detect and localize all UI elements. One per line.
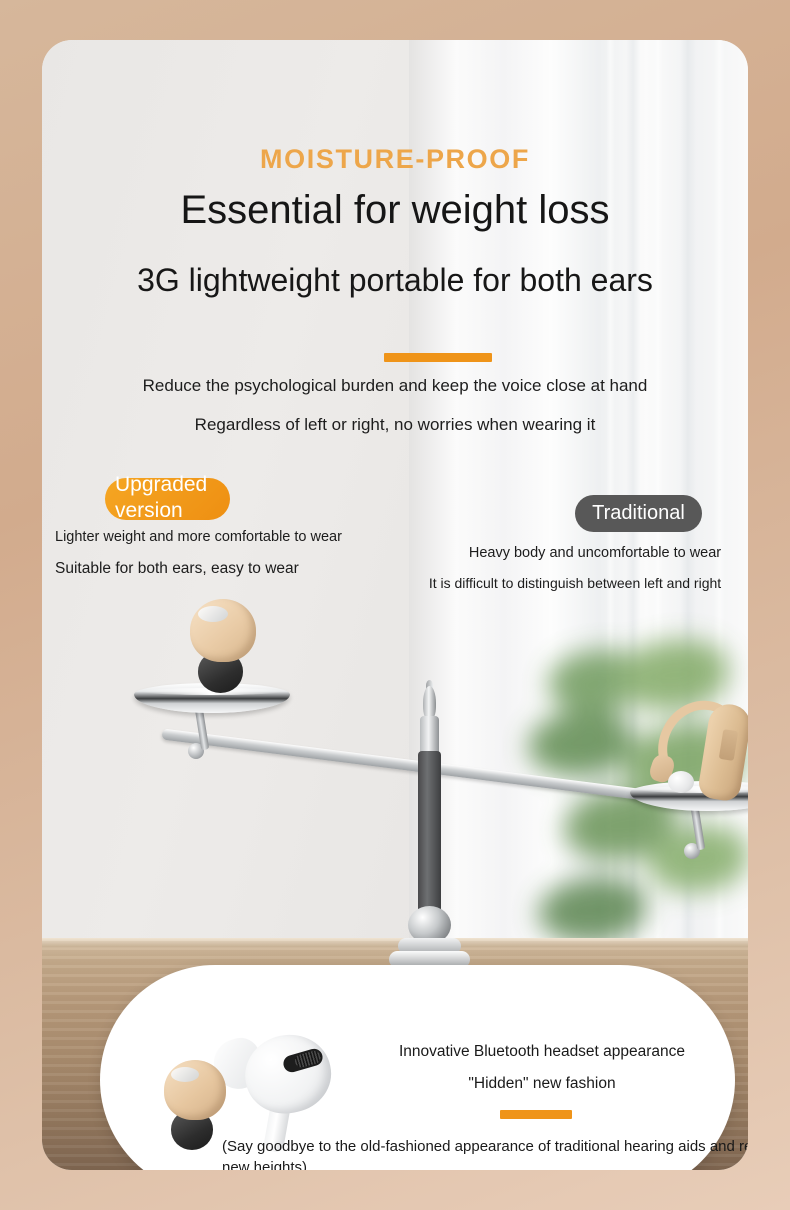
- bottom-hearing-aid-faceplate: [171, 1067, 199, 1082]
- feature-line-1: Reduce the psychological burden and keep…: [42, 376, 748, 396]
- product-banner-card: MOISTURE-PROOF Essential for weight loss…: [42, 40, 748, 1170]
- upgraded-detail-1: Lighter weight and more comfortable to w…: [55, 529, 342, 545]
- traditional-detail-1: Heavy body and uncomfortable to wear: [442, 545, 748, 561]
- scale-finial: [423, 686, 436, 720]
- page-title: Essential for weight loss: [42, 188, 748, 233]
- scale-pillar: [418, 751, 441, 920]
- page-subtitle: 3G lightweight portable for both ears: [42, 262, 748, 299]
- mini-hearing-aid-faceplate: [198, 606, 228, 622]
- bottom-card-line-2: "Hidden" new fashion: [332, 1075, 748, 1093]
- badge-traditional-label: Traditional: [592, 502, 685, 525]
- badge-upgraded-line-1: Upgraded: [115, 472, 265, 498]
- bottom-card-note: (Say goodbye to the old-fashioned appear…: [222, 1136, 748, 1170]
- bottom-card-line-1: Innovative Bluetooth headset appearance: [332, 1043, 748, 1061]
- badge-upgraded-line-2: version: [115, 498, 265, 524]
- bte-hearing-aid-dome: [668, 771, 694, 793]
- badge-upgraded-label: Upgraded version: [115, 472, 265, 524]
- traditional-detail-2: It is difficult to distinguish between l…: [402, 575, 748, 591]
- badge-traditional: Traditional: [575, 495, 702, 532]
- upgraded-detail-2: Suitable for both ears, easy to wear: [55, 560, 299, 578]
- kicker-heading: MOISTURE-PROOF: [42, 144, 748, 175]
- accent-divider-top: [384, 353, 492, 362]
- accent-divider-bottom: [500, 1110, 572, 1119]
- feature-line-2: Regardless of left or right, no worries …: [42, 415, 748, 435]
